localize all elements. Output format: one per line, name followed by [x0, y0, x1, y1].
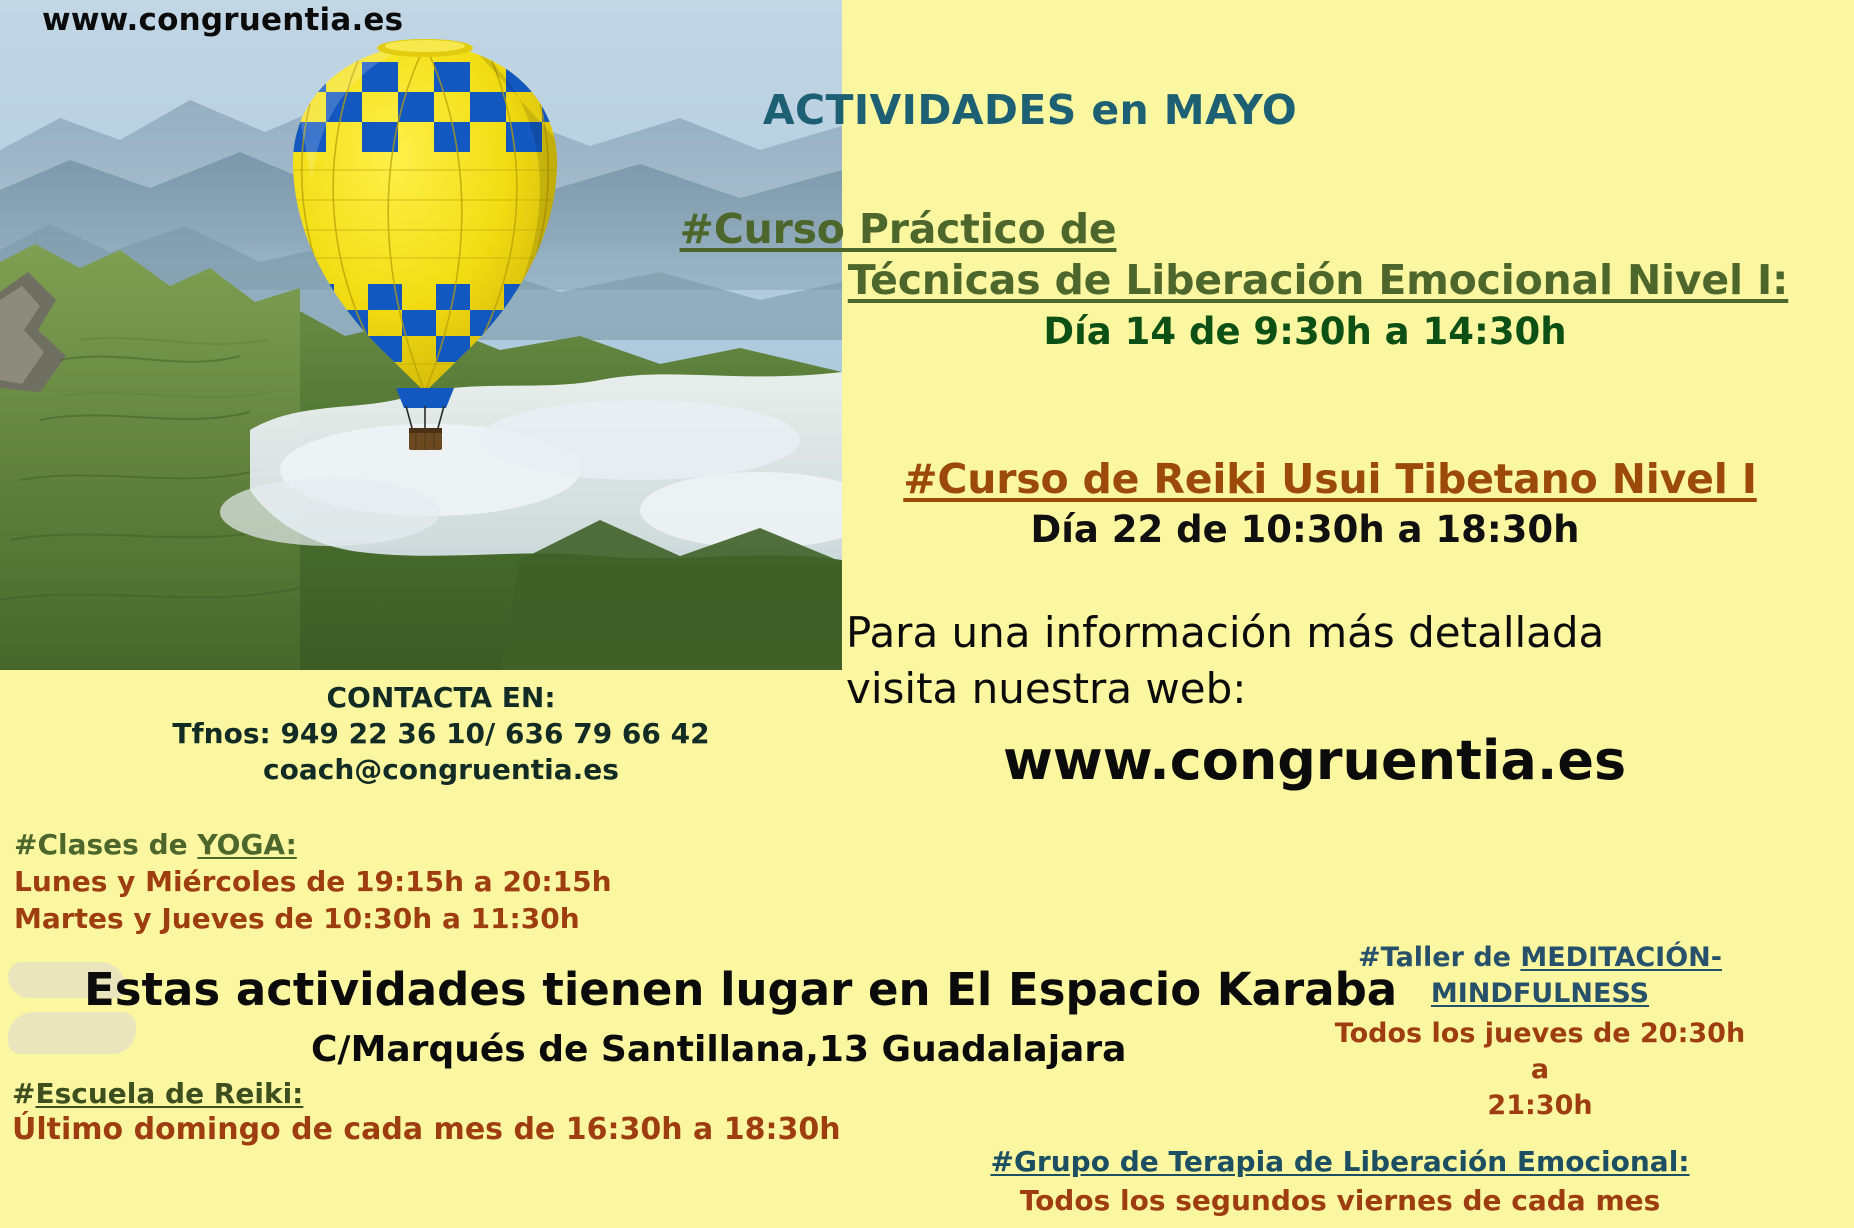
meditation-heading: #Taller de MEDITACIÓN-MINDFULNESS	[1330, 940, 1750, 1011]
contact-phones: Tfnos: 949 22 36 10/ 636 79 66 42	[172, 716, 709, 752]
meditation-heading-keyword-1: MEDITACIÓN-	[1520, 942, 1722, 973]
meditation-schedule-line-2: 21:30h	[1487, 1090, 1592, 1121]
site-url-top: www.congruentia.es	[42, 2, 403, 38]
course-1-title-line-2-text: Técnicas de Liberación Emocional Nivel I…	[848, 256, 1788, 304]
course-1-title-line-1: #Curso Práctico de	[680, 205, 1117, 253]
info-line-2: visita nuestra web:	[846, 664, 1246, 713]
meditation-block: #Taller de MEDITACIÓN-MINDFULNESS Todos …	[1330, 940, 1750, 1123]
therapy-group-heading: #Grupo de Terapia de Liberación Emociona…	[960, 1145, 1720, 1178]
course-2-date: Día 22 de 10:30h a 18:30h	[1030, 508, 1579, 551]
yoga-heading: #Clases de YOGA:	[14, 828, 612, 861]
watermark-smudge-2	[8, 1012, 136, 1054]
venue-line-1: Estas actividades tienen lugar en El Esp…	[84, 963, 1397, 1016]
meditation-heading-prefix: #Taller de	[1358, 942, 1520, 973]
reiki-school-schedule: Último domingo de cada mes de 16:30h a 1…	[12, 1112, 841, 1147]
contact-heading: CONTACTA EN:	[172, 680, 709, 716]
yoga-block: #Clases de YOGA: Lunes y Miércoles de 19…	[14, 828, 612, 935]
reiki-school-hash: #	[12, 1077, 35, 1110]
info-line-1: Para una información más detallada	[846, 608, 1604, 657]
course-2-title: #Curso de Reiki Usui Tibetano Nivel I	[903, 455, 1757, 503]
course-1-title-line-2: Técnicas de Liberación Emocional Nivel I…	[848, 256, 1788, 304]
poster-canvas: www.congruentia.es ACTIVIDADES en MAYO #…	[0, 0, 1854, 1228]
therapy-group-schedule: Todos los segundos viernes de cada mes	[960, 1184, 1720, 1217]
contact-email[interactable]: coach@congruentia.es	[172, 752, 709, 788]
reiki-school-heading: #Escuela de Reiki:	[12, 1077, 841, 1110]
yoga-heading-keyword: YOGA:	[197, 828, 296, 861]
therapy-group-heading-text: #Grupo de Terapia de Liberación Emociona…	[990, 1145, 1689, 1178]
balloon-photo-svg	[0, 0, 842, 670]
reiki-school-block: #Escuela de Reiki: Último domingo de cad…	[12, 1077, 841, 1147]
yoga-heading-prefix: #Clases de	[14, 828, 197, 861]
reiki-school-heading-text: Escuela de Reiki:	[35, 1077, 303, 1110]
venue-line-2: C/Marqués de Santillana,13 Guadalajara	[311, 1029, 1126, 1070]
meditation-schedule-line-1: Todos los jueves de 20:30h a	[1335, 1018, 1745, 1085]
balloon-photo	[0, 0, 842, 670]
course-1-title-line-1-text: #Curso Práctico de	[680, 205, 1117, 253]
contact-block: CONTACTA EN: Tfnos: 949 22 36 10/ 636 79…	[172, 680, 709, 787]
course-1-date: Día 14 de 9:30h a 14:30h	[1043, 310, 1566, 353]
yoga-schedule-1: Lunes y Miércoles de 19:15h a 20:15h	[14, 865, 612, 898]
meditation-heading-keyword-2: MINDFULNESS	[1431, 978, 1649, 1009]
site-url-main[interactable]: www.congruentia.es	[1003, 729, 1626, 792]
page-title: ACTIVIDADES en MAYO	[763, 86, 1297, 134]
yoga-schedule-2: Martes y Jueves de 10:30h a 11:30h	[14, 902, 612, 935]
meditation-schedule: Todos los jueves de 20:30h a21:30h	[1330, 1016, 1750, 1123]
therapy-group-block: #Grupo de Terapia de Liberación Emociona…	[960, 1145, 1720, 1217]
course-2-title-text: #Curso de Reiki Usui Tibetano Nivel I	[903, 455, 1757, 503]
